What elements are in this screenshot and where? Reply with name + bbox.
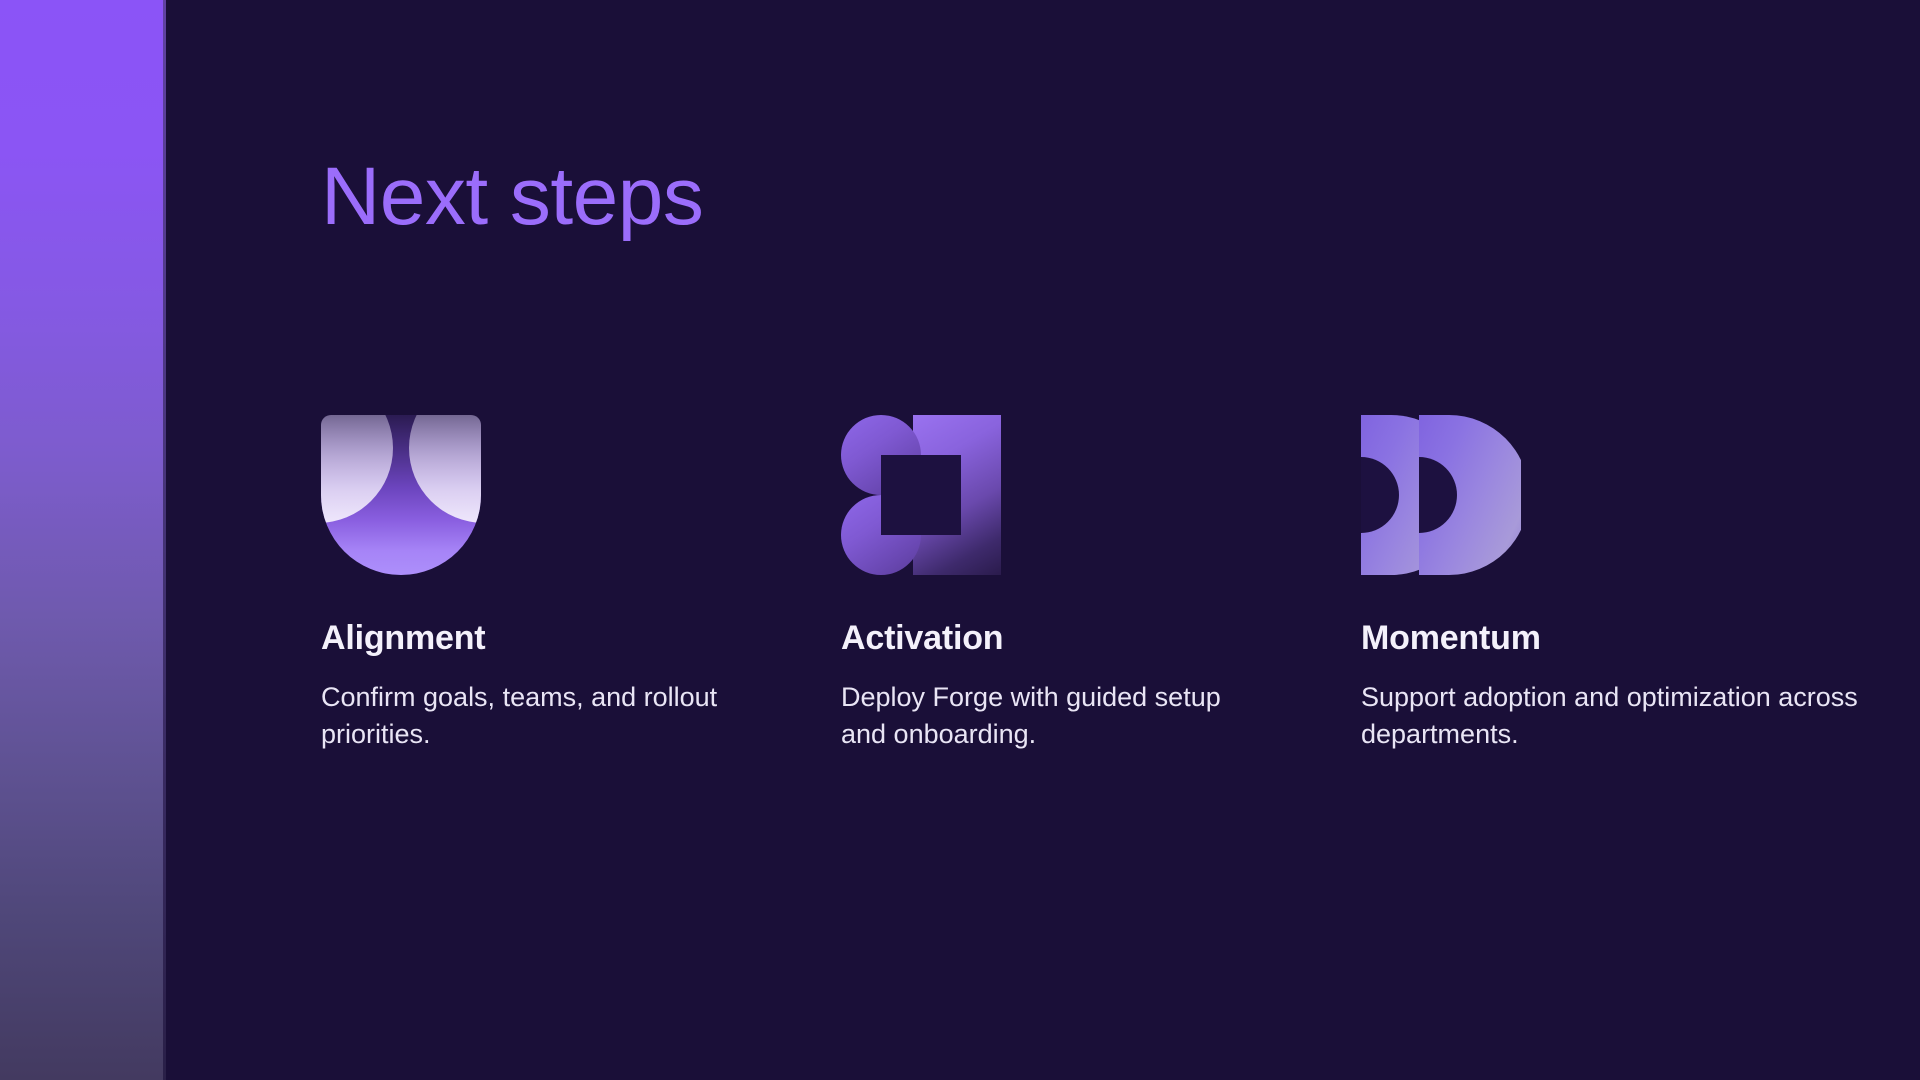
left-accent-gradient-bar	[0, 0, 163, 1080]
card-heading: Alignment	[321, 620, 841, 657]
tulip-petal-right	[409, 415, 481, 523]
activation-icon-wrapper	[841, 415, 1001, 575]
card-body-text: Confirm goals, teams, and rollout priori…	[321, 679, 751, 752]
card-alignment[interactable]: Alignment Confirm goals, teams, and roll…	[321, 415, 841, 752]
slide-next-steps: Next steps Alignment Confirm goals, team…	[0, 0, 1920, 1080]
tulip-cup-icon	[321, 415, 481, 575]
card-body-text: Support adoption and optimization across…	[1361, 679, 1881, 752]
card-activation[interactable]: Activation Deploy Forge with guided setu…	[841, 415, 1361, 752]
circles-rectangle-icon	[841, 415, 1001, 575]
card-heading: Activation	[841, 620, 1361, 657]
cards-row: Alignment Confirm goals, teams, and roll…	[321, 415, 1881, 752]
slide-content: Next steps Alignment Confirm goals, team…	[163, 0, 1920, 1080]
card-momentum[interactable]: Momentum Support adoption and optimizati…	[1361, 415, 1881, 752]
tulip-cup-body	[321, 415, 481, 575]
card-heading: Momentum	[1361, 620, 1881, 657]
activation-square-notch	[881, 455, 961, 535]
tulip-petal-left	[321, 415, 393, 523]
alignment-icon-wrapper	[321, 415, 481, 575]
double-crescent-icon	[1361, 415, 1521, 575]
page-title: Next steps	[321, 156, 703, 238]
card-body-text: Deploy Forge with guided setup and onboa…	[841, 679, 1271, 752]
momentum-icon-wrapper	[1361, 415, 1521, 575]
